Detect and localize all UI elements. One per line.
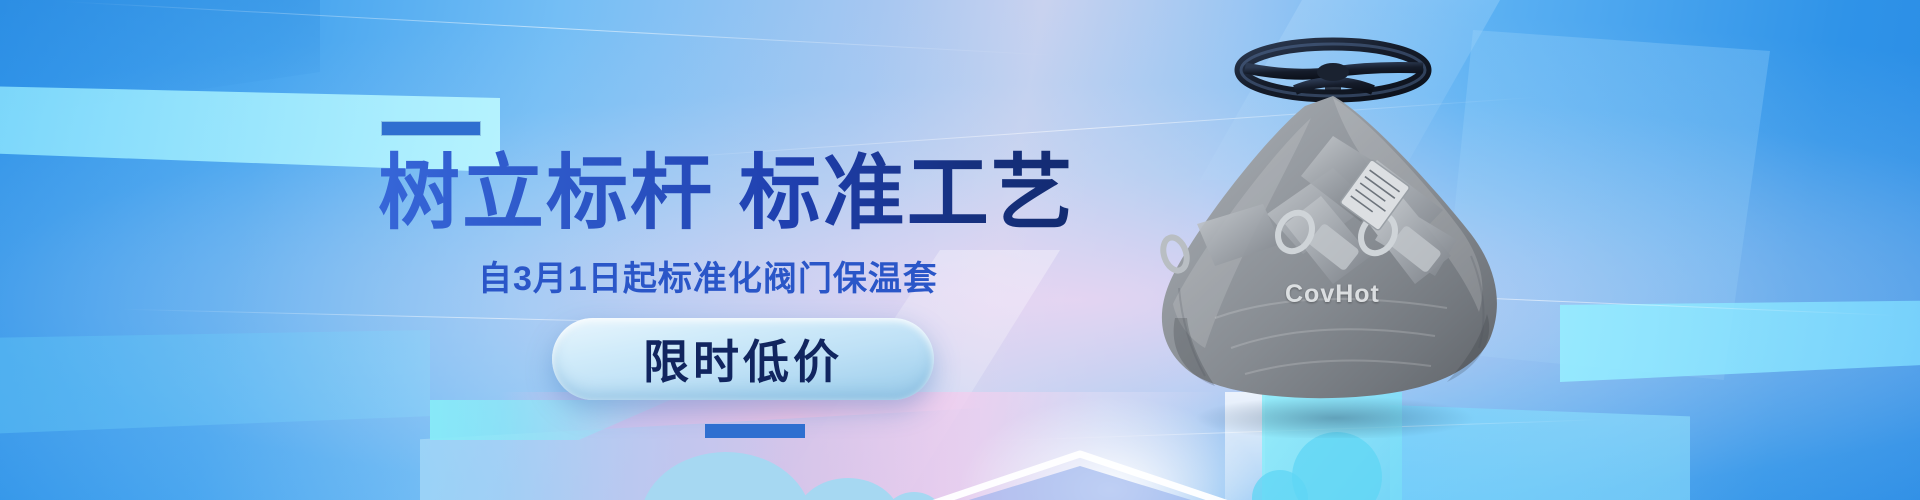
cta-button-label: 限时低价 <box>643 326 843 392</box>
banner-subtitle: 自3月1日起标准化阀门保温套 <box>478 258 1038 300</box>
product-brand-label: CovHot <box>1285 280 1380 309</box>
headline-accent-dash <box>382 122 480 135</box>
banner-content: 树立标杆 标准工艺 自3月1日起标准化阀门保温套 限时低价 <box>0 0 1920 500</box>
page-title: 树立标杆 标准工艺 <box>378 148 1098 240</box>
promo-banner: 树立标杆 标准工艺 自3月1日起标准化阀门保温套 限时低价 <box>0 0 1920 500</box>
cta-underline-dash <box>705 424 805 438</box>
product-image-valve-jacket <box>1135 18 1525 438</box>
limited-time-price-button[interactable]: 限时低价 <box>552 318 934 400</box>
